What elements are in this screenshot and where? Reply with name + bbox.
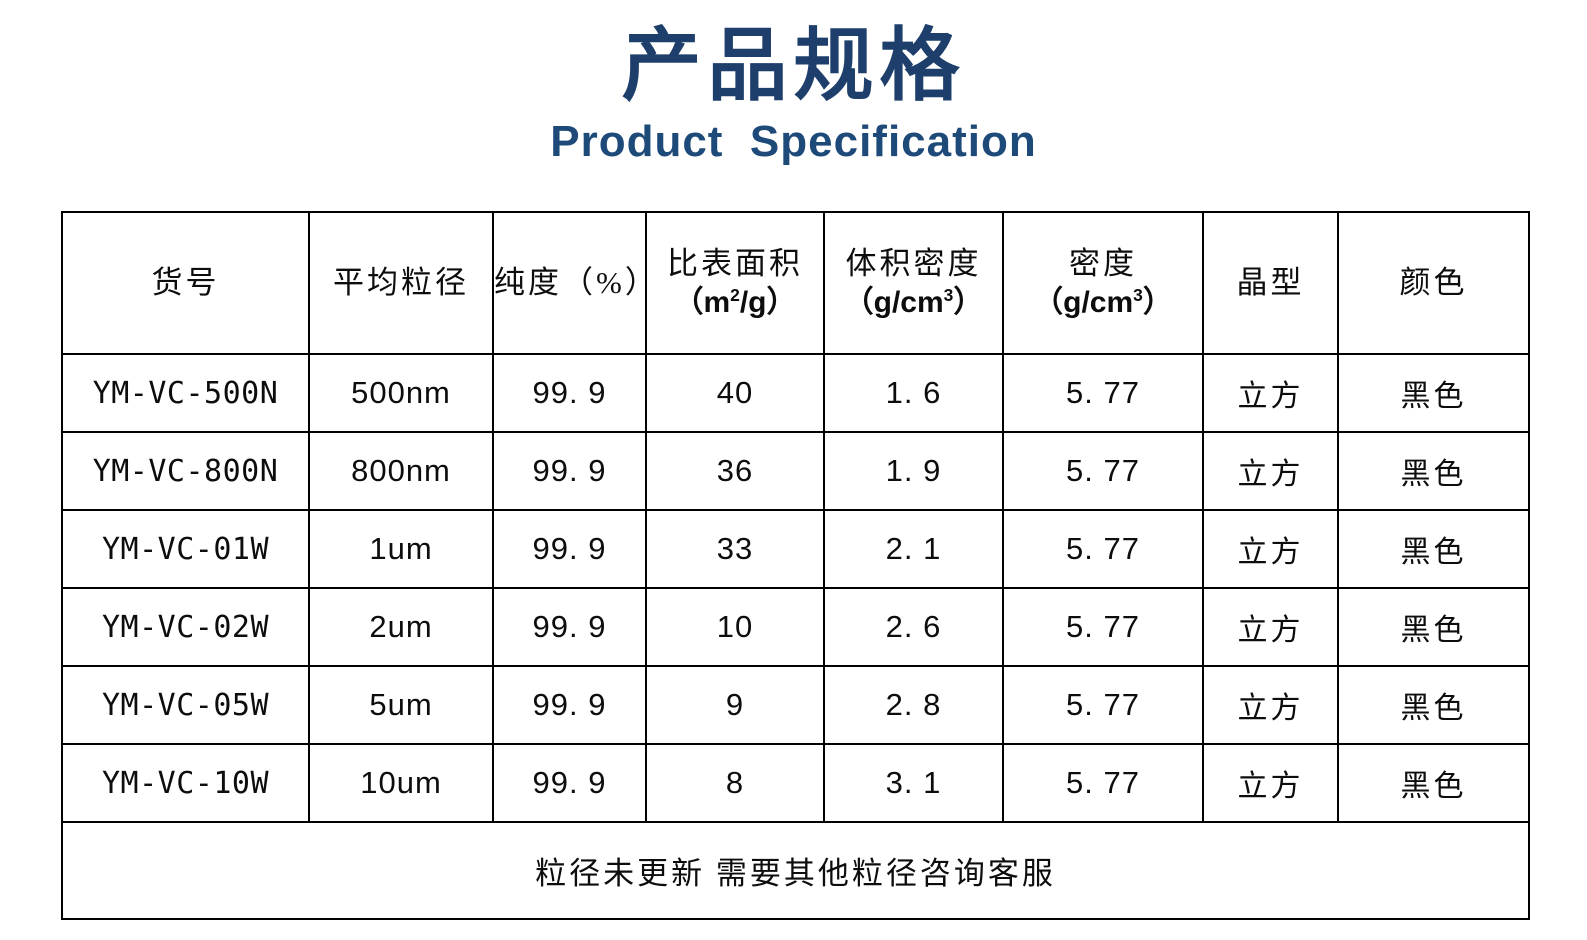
cell-color: 黑色 bbox=[1338, 432, 1529, 510]
cell-density: 5. 77 bbox=[1003, 744, 1203, 822]
table-row: YM-VC-01W 1um 99. 9 33 2. 1 5. 77 立方 黑色 bbox=[62, 510, 1529, 588]
cell-value: YM-VC-01W bbox=[102, 532, 269, 567]
cell-crystal-form: 立方 bbox=[1203, 744, 1338, 822]
cell-value: 立方 bbox=[1238, 536, 1304, 569]
column-header-unit: （m2/g） bbox=[647, 284, 823, 322]
cell-value: 黑色 bbox=[1401, 536, 1467, 569]
column-header-label: 比表面积 bbox=[647, 245, 823, 284]
cell-note: 粒径未更新 需要其他粒径咨询客服 bbox=[62, 822, 1529, 919]
cell-crystal-form: 立方 bbox=[1203, 432, 1338, 510]
cell-crystal-form: 立方 bbox=[1203, 588, 1338, 666]
table-header-row: 货号 平均粒径 纯度（%） 比表面积 （m2/g） 体积密度 （g/cm3） bbox=[62, 212, 1529, 354]
cell-product-code: YM-VC-01W bbox=[62, 510, 309, 588]
column-header-average-particle-size: 平均粒径 bbox=[309, 212, 493, 354]
cell-value: 5. 77 bbox=[1066, 453, 1140, 488]
cell-value: 立方 bbox=[1238, 770, 1304, 803]
cell-density: 5. 77 bbox=[1003, 510, 1203, 588]
cell-value: YM-VC-800N bbox=[93, 454, 279, 489]
cell-value: 黑色 bbox=[1401, 614, 1467, 647]
table-row: YM-VC-500N 500nm 99. 9 40 1. 6 5. 77 立方 … bbox=[62, 354, 1529, 432]
unit-base: （g/cm bbox=[1033, 286, 1133, 319]
column-header-label: 货号 bbox=[63, 264, 308, 303]
cell-color: 黑色 bbox=[1338, 510, 1529, 588]
cell-value: 5. 77 bbox=[1066, 375, 1140, 410]
cell-value: 2. 1 bbox=[886, 531, 942, 566]
cell-specific-surface-area: 33 bbox=[646, 510, 824, 588]
cell-product-code: YM-VC-05W bbox=[62, 666, 309, 744]
cell-value: 99. 9 bbox=[533, 687, 607, 722]
column-header-product-code: 货号 bbox=[62, 212, 309, 354]
column-header-crystal-form: 晶型 bbox=[1203, 212, 1338, 354]
cell-value: 1um bbox=[369, 531, 432, 566]
unit-base: （m bbox=[673, 286, 730, 319]
cell-density: 5. 77 bbox=[1003, 666, 1203, 744]
unit-exponent: 3 bbox=[944, 285, 954, 305]
cell-value: 黑色 bbox=[1401, 458, 1467, 491]
cell-value: YM-VC-05W bbox=[102, 688, 269, 723]
cell-product-code: YM-VC-02W bbox=[62, 588, 309, 666]
cell-value: 8 bbox=[726, 765, 744, 800]
cell-value: 黑色 bbox=[1401, 692, 1467, 725]
cell-bulk-density: 2. 1 bbox=[824, 510, 1003, 588]
cell-color: 黑色 bbox=[1338, 354, 1529, 432]
column-header-color: 颜色 bbox=[1338, 212, 1529, 354]
cell-value: 36 bbox=[717, 453, 753, 488]
cell-value: 1. 6 bbox=[886, 375, 942, 410]
cell-crystal-form: 立方 bbox=[1203, 354, 1338, 432]
cell-value: 5. 77 bbox=[1066, 765, 1140, 800]
spec-table-container: 货号 平均粒径 纯度（%） 比表面积 （m2/g） 体积密度 （g/cm3） bbox=[61, 211, 1528, 920]
cell-value: 2um bbox=[369, 609, 432, 644]
cell-value: 40 bbox=[717, 375, 753, 410]
cell-purity: 99. 9 bbox=[493, 744, 646, 822]
product-specification-page: 产品规格 Product Specification 货号 平均粒径 纯度（%） bbox=[0, 0, 1587, 940]
column-header-unit: （g/cm3） bbox=[1004, 284, 1202, 322]
table-row: YM-VC-800N 800nm 99. 9 36 1. 9 5. 77 立方 … bbox=[62, 432, 1529, 510]
cell-specific-surface-area: 8 bbox=[646, 744, 824, 822]
cell-specific-surface-area: 40 bbox=[646, 354, 824, 432]
cell-average-particle-size: 2um bbox=[309, 588, 493, 666]
cell-product-code: YM-VC-800N bbox=[62, 432, 309, 510]
cell-value: 1. 9 bbox=[886, 453, 942, 488]
table-note-row: 粒径未更新 需要其他粒径咨询客服 bbox=[62, 822, 1529, 919]
column-header-specific-surface-area: 比表面积 （m2/g） bbox=[646, 212, 824, 354]
table-row: YM-VC-02W 2um 99. 9 10 2. 6 5. 77 立方 黑色 bbox=[62, 588, 1529, 666]
cell-value: 5. 77 bbox=[1066, 609, 1140, 644]
cell-value: 黑色 bbox=[1401, 770, 1467, 803]
cell-value: 33 bbox=[717, 531, 753, 566]
cell-value: 5. 77 bbox=[1066, 531, 1140, 566]
table-row: YM-VC-05W 5um 99. 9 9 2. 8 5. 77 立方 黑色 bbox=[62, 666, 1529, 744]
column-header-label: 晶型 bbox=[1204, 264, 1337, 303]
cell-value: 99. 9 bbox=[533, 609, 607, 644]
product-specification-table: 货号 平均粒径 纯度（%） 比表面积 （m2/g） 体积密度 （g/cm3） bbox=[61, 211, 1530, 920]
cell-value: 10um bbox=[360, 765, 442, 800]
cell-density: 5. 77 bbox=[1003, 588, 1203, 666]
cell-value: 立方 bbox=[1238, 458, 1304, 491]
unit-tail: ） bbox=[953, 286, 983, 319]
cell-value: YM-VC-500N bbox=[93, 376, 279, 411]
cell-purity: 99. 9 bbox=[493, 432, 646, 510]
cell-bulk-density: 3. 1 bbox=[824, 744, 1003, 822]
column-header-purity: 纯度（%） bbox=[493, 212, 646, 354]
cell-value: 立方 bbox=[1238, 614, 1304, 647]
cell-crystal-form: 立方 bbox=[1203, 510, 1338, 588]
note-text: 粒径未更新 需要其他粒径咨询客服 bbox=[535, 856, 1056, 891]
table-body: YM-VC-500N 500nm 99. 9 40 1. 6 5. 77 立方 … bbox=[62, 354, 1529, 919]
cell-purity: 99. 9 bbox=[493, 666, 646, 744]
cell-density: 5. 77 bbox=[1003, 354, 1203, 432]
cell-value: 立方 bbox=[1238, 380, 1304, 413]
cell-value: 9 bbox=[726, 687, 744, 722]
cell-average-particle-size: 800nm bbox=[309, 432, 493, 510]
column-header-label: 纯度（%） bbox=[494, 264, 645, 303]
unit-base: （g/cm bbox=[844, 286, 944, 319]
cell-value: 10 bbox=[717, 609, 753, 644]
cell-value: 99. 9 bbox=[533, 531, 607, 566]
unit-exponent: 3 bbox=[1133, 285, 1143, 305]
cell-average-particle-size: 10um bbox=[309, 744, 493, 822]
cell-color: 黑色 bbox=[1338, 666, 1529, 744]
cell-color: 黑色 bbox=[1338, 588, 1529, 666]
cell-bulk-density: 2. 8 bbox=[824, 666, 1003, 744]
cell-value: 99. 9 bbox=[533, 375, 607, 410]
cell-specific-surface-area: 36 bbox=[646, 432, 824, 510]
column-header-label: 平均粒径 bbox=[310, 264, 492, 303]
column-header-label: 体积密度 bbox=[825, 245, 1002, 284]
cell-value: 5um bbox=[369, 687, 432, 722]
cell-value: 2. 8 bbox=[886, 687, 942, 722]
cell-crystal-form: 立方 bbox=[1203, 666, 1338, 744]
column-header-unit: （g/cm3） bbox=[825, 284, 1002, 322]
cell-specific-surface-area: 9 bbox=[646, 666, 824, 744]
unit-exponent: 2 bbox=[730, 285, 740, 305]
cell-purity: 99. 9 bbox=[493, 510, 646, 588]
unit-tail: ） bbox=[1143, 286, 1173, 319]
title-block: 产品规格 Product Specification bbox=[0, 26, 1587, 164]
cell-product-code: YM-VC-10W bbox=[62, 744, 309, 822]
column-header-density: 密度 （g/cm3） bbox=[1003, 212, 1203, 354]
column-header-bulk-density: 体积密度 （g/cm3） bbox=[824, 212, 1003, 354]
cell-purity: 99. 9 bbox=[493, 354, 646, 432]
cell-value: 5. 77 bbox=[1066, 687, 1140, 722]
cell-specific-surface-area: 10 bbox=[646, 588, 824, 666]
cell-bulk-density: 1. 9 bbox=[824, 432, 1003, 510]
cell-value: 黑色 bbox=[1401, 380, 1467, 413]
cell-value: 99. 9 bbox=[533, 765, 607, 800]
column-header-label: 密度 bbox=[1004, 245, 1202, 284]
cell-value: 2. 6 bbox=[886, 609, 942, 644]
cell-color: 黑色 bbox=[1338, 744, 1529, 822]
cell-bulk-density: 2. 6 bbox=[824, 588, 1003, 666]
cell-density: 5. 77 bbox=[1003, 432, 1203, 510]
column-header-label: 颜色 bbox=[1339, 264, 1528, 303]
page-title-chinese: 产品规格 bbox=[0, 26, 1587, 106]
cell-average-particle-size: 5um bbox=[309, 666, 493, 744]
cell-value: 3. 1 bbox=[886, 765, 942, 800]
unit-tail: /g） bbox=[740, 286, 797, 319]
cell-purity: 99. 9 bbox=[493, 588, 646, 666]
cell-bulk-density: 1. 6 bbox=[824, 354, 1003, 432]
cell-value: YM-VC-02W bbox=[102, 610, 269, 645]
cell-product-code: YM-VC-500N bbox=[62, 354, 309, 432]
cell-average-particle-size: 500nm bbox=[309, 354, 493, 432]
cell-value: 立方 bbox=[1238, 692, 1304, 725]
cell-value: 800nm bbox=[351, 453, 451, 488]
cell-value: 99. 9 bbox=[533, 453, 607, 488]
cell-average-particle-size: 1um bbox=[309, 510, 493, 588]
cell-value: 500nm bbox=[351, 375, 451, 410]
page-title-english: Product Specification bbox=[0, 120, 1587, 164]
table-row: YM-VC-10W 10um 99. 9 8 3. 1 5. 77 立方 黑色 bbox=[62, 744, 1529, 822]
cell-value: YM-VC-10W bbox=[102, 766, 269, 801]
